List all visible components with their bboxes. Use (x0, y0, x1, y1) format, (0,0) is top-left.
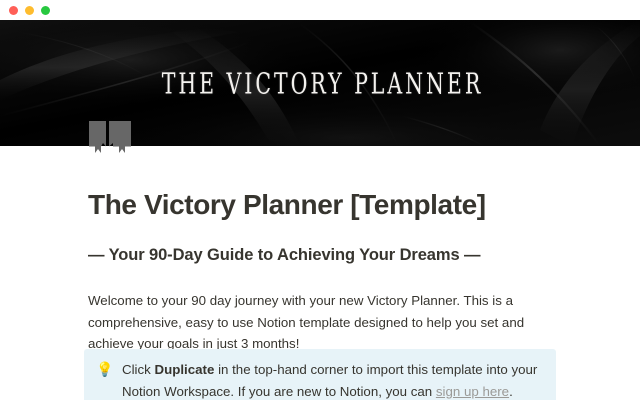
banner-title: THE VICTORY PLANNER (58, 20, 583, 146)
minimize-button[interactable] (25, 6, 34, 15)
intro-paragraph[interactable]: Welcome to your 90 day journey with your… (88, 290, 556, 355)
callout-text-after: . (509, 384, 513, 399)
sign-up-here-link[interactable]: sign up here (436, 384, 509, 399)
callout-bold-word: Duplicate (155, 362, 215, 377)
page-title[interactable]: The Victory Planner [Template] (88, 188, 486, 222)
lightbulb-icon: 💡 (96, 359, 113, 379)
page-subtitle[interactable]: — Your 90-Day Guide to Achieving Your Dr… (88, 245, 480, 266)
callout-text-before: Click (122, 362, 155, 377)
window-controls (9, 6, 50, 15)
maximize-button[interactable] (41, 6, 50, 15)
close-button[interactable] (9, 6, 18, 15)
open-book-icon[interactable] (89, 121, 131, 153)
window-titlebar (0, 0, 640, 20)
notion-page-window: THE VICTORY PLANNER The Victory Planner … (0, 0, 640, 400)
callout-text: Click Duplicate in the top-hand corner t… (122, 359, 542, 400)
callout-block[interactable]: 💡 Click Duplicate in the top-hand corner… (84, 349, 556, 400)
